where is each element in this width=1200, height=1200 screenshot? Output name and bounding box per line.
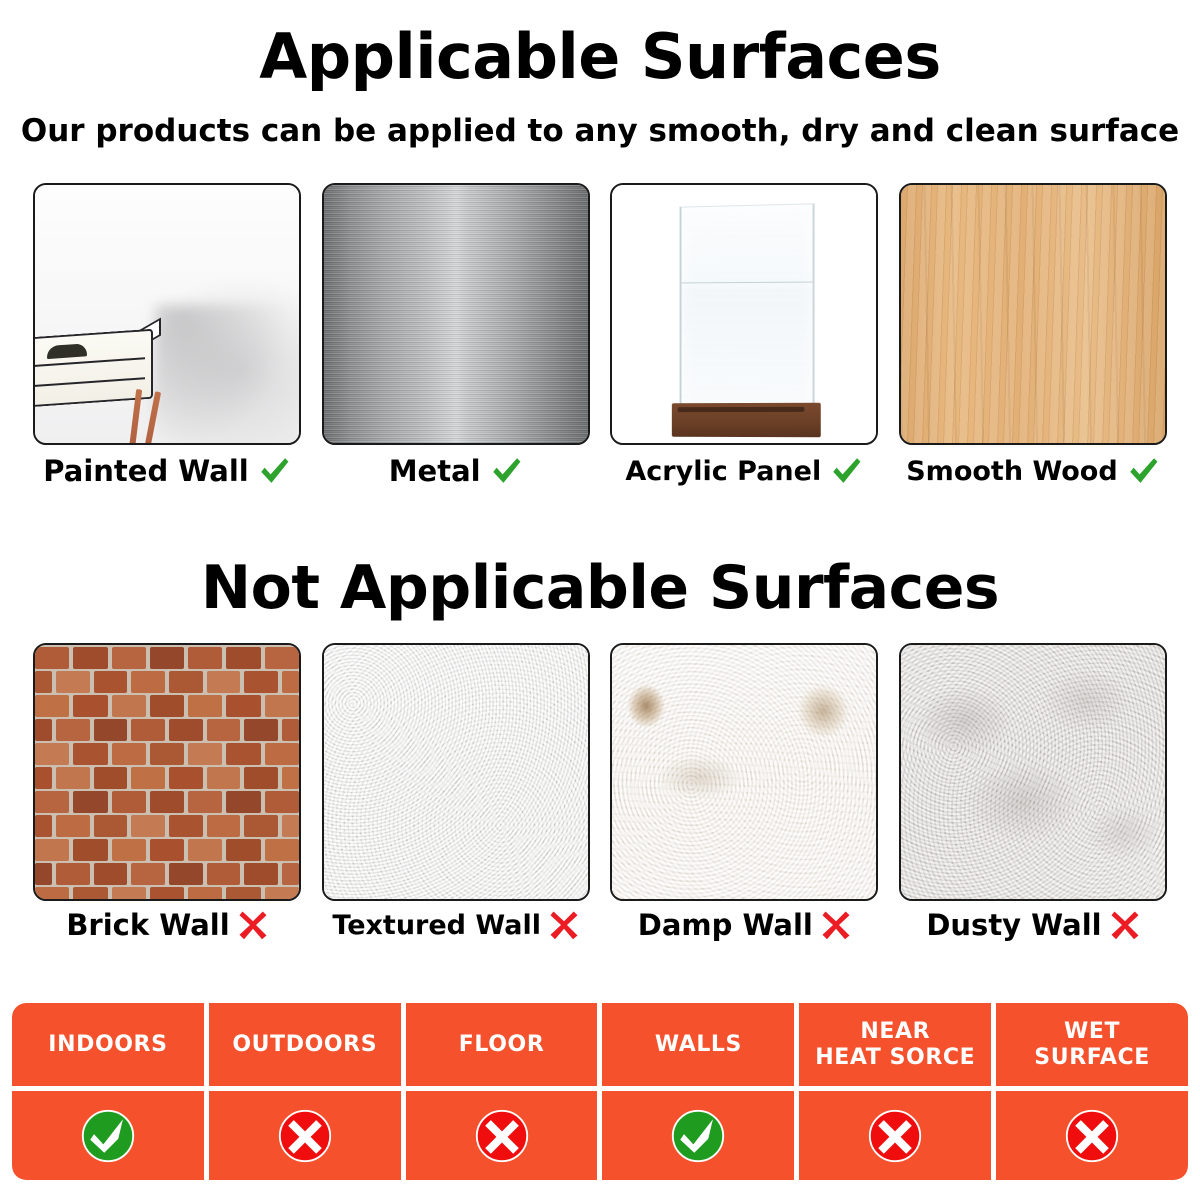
brick (188, 695, 222, 717)
brick (94, 719, 128, 741)
brick (226, 791, 260, 813)
brick (169, 767, 203, 789)
brick (112, 647, 146, 669)
brick (265, 791, 299, 813)
surface-label: Painted Wall (43, 457, 248, 486)
brick (244, 767, 278, 789)
green-check-icon (1126, 454, 1160, 488)
brick (35, 743, 69, 765)
brick (207, 671, 241, 693)
brick (188, 647, 222, 669)
brick (282, 815, 299, 837)
brick (150, 743, 184, 765)
textured-wall-label-row: Textured Wall (322, 910, 590, 940)
brick (131, 767, 165, 789)
matrix-header-label: FLOOR (459, 1032, 545, 1058)
matrix-header-label: WALLS (655, 1032, 742, 1058)
applicable-surfaces-title: Applicable Surfaces (0, 26, 1200, 88)
brick (94, 863, 128, 885)
surface-label: Smooth Wood (906, 458, 1117, 485)
brick (73, 695, 107, 717)
wooden-base (672, 403, 821, 438)
brick-row (35, 669, 299, 695)
brick (35, 815, 52, 837)
surface-label: Textured Wall (332, 912, 541, 939)
infographic-page: Applicable Surfaces Our products can be … (0, 0, 1200, 1200)
brick (35, 767, 52, 789)
applicable-surfaces-grid: Painted Wall Metal (0, 183, 1200, 488)
brick (35, 791, 69, 813)
smooth-wood-image (899, 183, 1167, 445)
usage-matrix-table: INDOORS OUTDOORS FLOOR WALLS NEARHEAT SO… (12, 1003, 1188, 1180)
brick (207, 767, 241, 789)
surface-card-dusty-wall: Dusty Wall (899, 643, 1167, 940)
brick (244, 863, 278, 885)
brick (244, 815, 278, 837)
surface-card-textured-wall: Textured Wall (322, 643, 590, 940)
acrylic-panel-image (610, 183, 878, 445)
brick (226, 695, 260, 717)
brick (226, 839, 260, 861)
red-circle-cross-icon (277, 1108, 333, 1164)
surface-label: Brick Wall (66, 911, 229, 940)
brick (56, 671, 90, 693)
brick (282, 719, 299, 741)
applicable-surfaces-subtitle: Our products can be applied to any smoot… (0, 116, 1200, 147)
red-cross-icon (549, 910, 579, 940)
cabinet-handle (47, 343, 87, 359)
damp-texture (612, 645, 876, 899)
acrylic-sheet (680, 203, 815, 418)
brick (35, 719, 52, 741)
red-circle-cross-icon (867, 1108, 923, 1164)
matrix-header-cell: FLOOR (406, 1003, 598, 1086)
brick (150, 695, 184, 717)
red-circle-cross-icon (1064, 1108, 1120, 1164)
not-applicable-surfaces-title: Not Applicable Surfaces (0, 558, 1200, 618)
brick (35, 647, 69, 669)
brick (150, 887, 184, 901)
smooth-wood-label-row: Smooth Wood (899, 454, 1167, 488)
brick (73, 647, 107, 669)
green-circle-check-icon (80, 1108, 136, 1164)
brick (73, 743, 107, 765)
matrix-value-cell (12, 1091, 204, 1180)
brick (56, 767, 90, 789)
brick (112, 695, 146, 717)
brick-row (35, 717, 299, 743)
brick-wall-label-row: Brick Wall (33, 910, 301, 940)
brick (226, 647, 260, 669)
brick (188, 743, 222, 765)
brick (244, 719, 278, 741)
brick (94, 767, 128, 789)
brick (150, 647, 184, 669)
surface-card-painted-wall: Painted Wall (33, 183, 301, 488)
brick-row (35, 645, 299, 671)
matrix-header-cell: WALLS (602, 1003, 794, 1086)
brick (188, 839, 222, 861)
brick (56, 719, 90, 741)
metal-image (322, 183, 590, 445)
wood-grain-texture (901, 185, 1165, 443)
dusty-concrete-texture (901, 645, 1165, 899)
brick (131, 671, 165, 693)
green-circle-check-icon (670, 1108, 726, 1164)
brick (56, 815, 90, 837)
brick (112, 887, 146, 901)
matrix-header-label: NEARHEAT SORCE (815, 1019, 975, 1071)
brick (131, 863, 165, 885)
red-cross-icon (238, 910, 268, 940)
brick (131, 719, 165, 741)
not-applicable-surfaces-grid: Brick Wall Textured Wall (0, 643, 1200, 940)
red-circle-cross-icon (474, 1108, 530, 1164)
brick (35, 863, 52, 885)
brick (265, 695, 299, 717)
brick-wall-image (33, 643, 301, 901)
brick (94, 671, 128, 693)
brick-texture (35, 645, 299, 899)
brick (150, 839, 184, 861)
brick (150, 791, 184, 813)
matrix-value-cell (602, 1091, 794, 1180)
brick-row (35, 885, 299, 901)
brick (282, 863, 299, 885)
matrix-header-cell: OUTDOORS (209, 1003, 401, 1086)
surface-card-acrylic-panel: Acrylic Panel (610, 183, 878, 488)
brick (169, 719, 203, 741)
brick (73, 791, 107, 813)
painted-wall-label-row: Painted Wall (33, 454, 301, 488)
brick (169, 863, 203, 885)
brick-row (35, 765, 299, 791)
stucco-texture (324, 645, 588, 899)
matrix-value-cell (209, 1091, 401, 1180)
surface-label: Acrylic Panel (625, 458, 821, 485)
matrix-header-cell: WETSURFACE (996, 1003, 1188, 1086)
brick (73, 887, 107, 901)
brick (188, 791, 222, 813)
brick (265, 743, 299, 765)
brick (35, 839, 69, 861)
brick (112, 839, 146, 861)
metal-label-row: Metal (322, 454, 590, 488)
brick (94, 815, 128, 837)
brick (226, 887, 260, 901)
brick (265, 887, 299, 901)
surface-card-brick-wall: Brick Wall (33, 643, 301, 940)
red-cross-icon (1110, 910, 1140, 940)
surface-label: Metal (389, 457, 481, 486)
brick-row (35, 789, 299, 815)
brick-row (35, 741, 299, 767)
brick-row (35, 837, 299, 863)
brick-row (35, 693, 299, 719)
brick (35, 695, 69, 717)
surface-label: Dusty Wall (926, 911, 1101, 940)
brick (73, 839, 107, 861)
surface-label: Damp Wall (638, 911, 813, 940)
green-check-icon (257, 454, 291, 488)
brick (207, 719, 241, 741)
red-cross-icon (821, 910, 851, 940)
matrix-header-label: WETSURFACE (1034, 1019, 1150, 1071)
matrix-header-cell: INDOORS (12, 1003, 204, 1086)
brick (35, 887, 69, 901)
acrylic-panel-label-row: Acrylic Panel (610, 454, 878, 488)
matrix-value-cell (799, 1091, 991, 1180)
matrix-value-cell (406, 1091, 598, 1180)
brick-row (35, 861, 299, 887)
brick (35, 671, 52, 693)
matrix-value-cell (996, 1091, 1188, 1180)
brick (282, 671, 299, 693)
brick (282, 767, 299, 789)
green-check-icon (829, 454, 863, 488)
brick (265, 647, 299, 669)
damp-wall-image (610, 643, 878, 901)
damp-wall-label-row: Damp Wall (610, 910, 878, 940)
brick (188, 887, 222, 901)
surface-card-metal: Metal (322, 183, 590, 488)
wall-shadow (155, 305, 285, 445)
brick-row (35, 813, 299, 839)
brick (207, 863, 241, 885)
brick (244, 671, 278, 693)
brick (112, 743, 146, 765)
painted-wall-image (33, 183, 301, 445)
matrix-header-label: INDOORS (48, 1032, 167, 1058)
brick (169, 815, 203, 837)
brick (131, 815, 165, 837)
matrix-header-cell: NEARHEAT SORCE (799, 1003, 991, 1086)
brick (265, 839, 299, 861)
green-check-icon (489, 454, 523, 488)
dusty-wall-image (899, 643, 1167, 901)
surface-card-damp-wall: Damp Wall (610, 643, 878, 940)
brushed-metal-texture (324, 185, 588, 443)
textured-wall-image (322, 643, 590, 901)
brick (112, 791, 146, 813)
brick (226, 743, 260, 765)
brick (207, 815, 241, 837)
brick (169, 671, 203, 693)
dusty-wall-label-row: Dusty Wall (899, 910, 1167, 940)
brick (56, 863, 90, 885)
matrix-header-label: OUTDOORS (232, 1032, 377, 1058)
surface-card-smooth-wood: Smooth Wood (899, 183, 1167, 488)
